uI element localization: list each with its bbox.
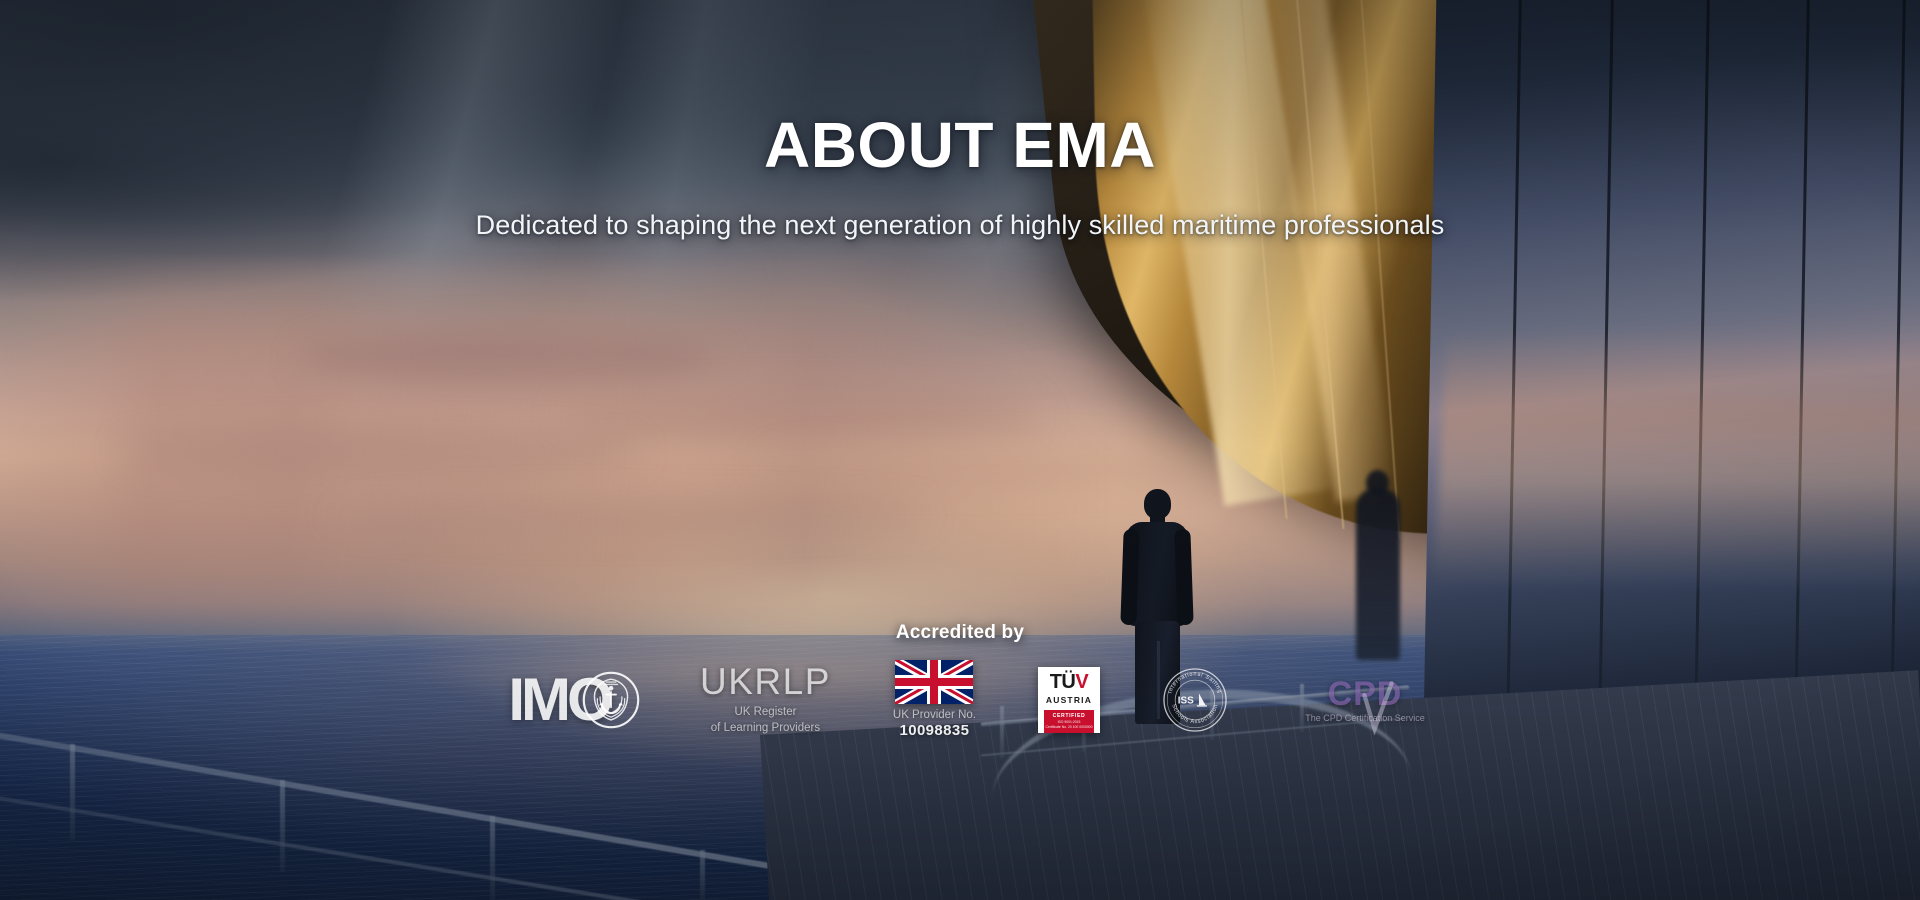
page-title: ABOUT EMA [764, 108, 1156, 182]
page-subtitle: Dedicated to shaping the next generation… [476, 210, 1445, 241]
hero-section: ABOUT EMA Dedicated to shaping the next … [0, 0, 1920, 900]
hero-content: ABOUT EMA Dedicated to shaping the next … [0, 0, 1920, 900]
